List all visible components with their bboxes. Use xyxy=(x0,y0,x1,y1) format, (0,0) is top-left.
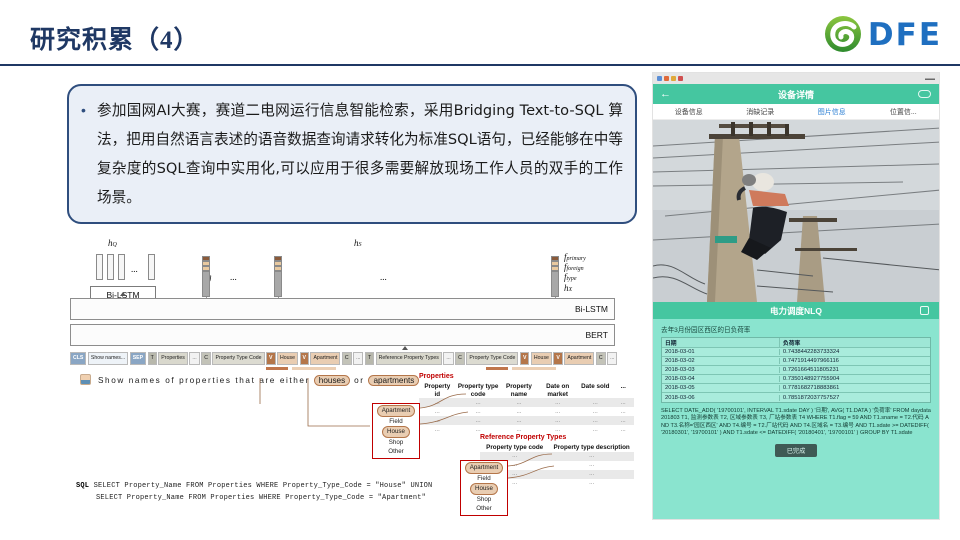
bi-lstm-band: Bi-LSTM xyxy=(70,298,615,320)
input-token: ... xyxy=(189,352,199,365)
table-cell: ... xyxy=(501,409,538,415)
nlq-table-cell: 2018-03-03 xyxy=(662,367,780,373)
status-left-icons xyxy=(657,76,683,81)
equipment-photo xyxy=(653,120,939,302)
input-token: Show names... xyxy=(88,352,128,365)
nlq-table-row: 2018-03-020.7471914497966116 xyxy=(662,357,930,366)
matched-value: House xyxy=(470,483,498,495)
input-token: Apartment xyxy=(310,352,340,365)
hidden-vector xyxy=(148,254,155,280)
nlq-table-cell: 2018-03-06 xyxy=(662,395,780,401)
matched-value: House xyxy=(382,426,410,438)
status-right-icons: ▬▬ xyxy=(925,76,935,82)
nlq-table-row: 2018-03-060.7851872037757527 xyxy=(662,393,930,402)
ellipsis-mid-2: ... xyxy=(380,272,387,282)
table-cell: ... xyxy=(419,409,456,415)
input-token: House xyxy=(277,352,298,365)
table-cell: ... xyxy=(578,400,612,406)
table-title-reference: Reference Property Types xyxy=(480,434,566,441)
input-token: V xyxy=(300,352,309,365)
label-f-foreign: fforeign xyxy=(564,262,584,272)
app-bar-title: 设备详情 xyxy=(778,88,814,101)
table-cell: ... xyxy=(537,400,578,406)
table-cell: ... xyxy=(578,409,612,415)
nlq-table-cell: 0.7851872037757527 xyxy=(780,395,930,401)
input-token: V xyxy=(520,352,529,365)
nlq-column-header: 日期 xyxy=(662,338,780,347)
mention-underline xyxy=(292,367,336,370)
column-header: Property type code xyxy=(480,444,549,452)
value-list-reference: ApartmentFieldHouseShopOther xyxy=(460,460,508,516)
mention-underline xyxy=(486,367,508,370)
table-row: .................. xyxy=(419,425,634,434)
label-f-type: ftype xyxy=(564,272,577,282)
nlq-column-header: 负荷率 xyxy=(780,338,930,347)
table-row: .................. xyxy=(419,398,634,407)
ellipsis-mid-1: ... xyxy=(230,272,237,282)
nlq-table-cell: 0.7438442283733324 xyxy=(780,349,930,355)
value-list-properties: ApartmentFieldHouseShopOther xyxy=(372,403,420,459)
bullet-marker: • xyxy=(81,102,86,118)
mention-underline xyxy=(512,367,556,370)
value-entry: House xyxy=(376,426,416,438)
phone-tab-0[interactable]: 设备信息 xyxy=(653,107,725,117)
nlq-title: 电力调度NLQ xyxy=(770,305,822,317)
input-token: C xyxy=(201,352,211,365)
table-cell: ... xyxy=(537,418,578,424)
value-entry: Shop xyxy=(464,495,504,505)
logo-e-swirl-icon xyxy=(824,15,864,55)
table-cell: ... xyxy=(612,427,634,433)
table-cell: ... xyxy=(419,418,456,424)
input-token: ... xyxy=(607,352,617,365)
value-entry: Shop xyxy=(376,438,416,448)
back-arrow-icon[interactable]: ← xyxy=(660,89,671,100)
phone-status-bar: ▬▬ xyxy=(653,73,939,84)
table-header-row: Property idProperty type codeProperty na… xyxy=(419,383,634,398)
column-header: Property type code xyxy=(456,383,501,398)
column-header: Property id xyxy=(419,383,456,398)
nlq-table-cell: 0.7471914497966116 xyxy=(780,358,930,364)
phone-screenshot: ▬▬ ← 设备详情 设备信息消缺记录图片信息位置信... xyxy=(652,72,940,520)
nlq-title-bar: 电力调度NLQ xyxy=(653,302,939,319)
nlq-table-cell: 2018-03-05 xyxy=(662,385,780,391)
value-entry: Other xyxy=(464,504,504,514)
value-entry: House xyxy=(464,483,504,495)
value-entry: Other xyxy=(376,447,416,457)
column-header: Date on market xyxy=(537,383,578,398)
hidden-vector xyxy=(96,254,103,280)
table-cell: ... xyxy=(501,418,538,424)
hidden-vector xyxy=(118,254,125,280)
input-token: House xyxy=(531,352,552,365)
table-cell: ... xyxy=(501,427,538,433)
nlq-table-row: 2018-03-050.7781682718883861 xyxy=(662,384,930,393)
brand-logo: DFE xyxy=(824,15,942,55)
nlq-table-cell: 2018-03-04 xyxy=(662,376,780,382)
nl-question: Show names of properties that are either… xyxy=(98,375,419,386)
nlq-table-cell: 2018-03-02 xyxy=(662,358,780,364)
column-header: Property name xyxy=(501,383,538,398)
nlq-generated-sql: SELECT DATE_ADD( '19700101', INTERVAL T1… xyxy=(661,408,931,438)
phone-tab-bar: 设备信息消缺记录图片信息位置信... xyxy=(653,104,939,120)
matched-value: Apartment xyxy=(377,405,416,417)
title-divider xyxy=(0,64,960,66)
appbar-action-icon[interactable] xyxy=(918,90,931,98)
input-token: V xyxy=(553,352,562,365)
table-title-properties: Properties xyxy=(419,373,454,380)
table-cell: ... xyxy=(612,418,634,424)
column-header: ... xyxy=(612,383,634,398)
table-row: .................. xyxy=(419,416,634,425)
table-cell: ... xyxy=(549,480,634,486)
mention-pill-houses: houses xyxy=(314,375,350,386)
value-entry: Field xyxy=(376,417,416,427)
ellipsis-q: ... xyxy=(131,264,138,274)
token-strip: CLSShow names...SEPTProperties...CProper… xyxy=(70,352,617,365)
callout-box: • 参加国网AI大赛，赛道二电网运行信息智能检索，采用Bridging Text… xyxy=(67,84,637,224)
label-h-x: hX xyxy=(564,283,572,293)
nlq-header-row: 日期负荷率 xyxy=(662,338,930,348)
table-cell: ... xyxy=(501,400,538,406)
mention-pill-apartments: apartments xyxy=(368,375,419,386)
input-token: Apartment xyxy=(564,352,594,365)
phone-app-bar: ← 设备详情 xyxy=(653,84,939,104)
table-cell: ... xyxy=(419,427,456,433)
table-cell: ... xyxy=(549,453,634,459)
table-cell: ... xyxy=(612,409,634,415)
hidden-vector xyxy=(107,254,114,280)
mention-underline xyxy=(266,367,288,370)
microphone-icon[interactable] xyxy=(920,306,929,315)
table-cell: ... xyxy=(480,453,549,459)
sql-output-line-2: SELECT Property_Name FROM Properties WHE… xyxy=(96,494,426,502)
value-entry: Field xyxy=(464,474,504,484)
input-token: T xyxy=(148,352,157,365)
logo-text: DFE xyxy=(868,20,942,51)
arrow-to-lstm xyxy=(120,292,126,296)
phone-tab-1[interactable]: 消缺记录 xyxy=(725,107,797,117)
input-token: CLS xyxy=(70,352,86,365)
user-avatar-icon xyxy=(80,374,91,385)
db-table-properties: Property idProperty type codeProperty na… xyxy=(419,383,634,434)
arrow-to-bert xyxy=(402,346,408,350)
callout-text: 参加国网AI大赛，赛道二电网运行信息智能检索，采用Bridging Text-t… xyxy=(97,96,623,212)
input-token: C xyxy=(455,352,465,365)
table-cell: ... xyxy=(456,427,501,433)
input-token: V xyxy=(266,352,275,365)
nlq-result-table: 日期负荷率2018-03-010.74384422837333242018-03… xyxy=(661,337,931,403)
input-token: C xyxy=(596,352,606,365)
phone-tab-2[interactable]: 图片信息 xyxy=(796,107,868,117)
nlq-table-cell: 2018-03-01 xyxy=(662,349,780,355)
input-token: Properties xyxy=(158,352,188,365)
table-row: .................. xyxy=(419,407,634,416)
bert-band: BERT xyxy=(70,324,615,346)
table-cell: ... xyxy=(537,409,578,415)
table-cell: ... xyxy=(549,471,634,477)
table-cell: ... xyxy=(456,409,501,415)
input-token: T xyxy=(365,352,374,365)
input-token: SEP xyxy=(130,352,146,365)
nlq-table-cell: 0.7350148927755904 xyxy=(780,376,930,382)
table-cell: ... xyxy=(456,418,501,424)
label-h-s: hS xyxy=(354,238,362,248)
done-button[interactable]: 已完成 xyxy=(775,444,817,457)
nlq-question: 去年3月份园区西区的日负荷率 xyxy=(653,319,939,337)
table-cell: ... xyxy=(578,427,612,433)
label-f-primary: fprimary xyxy=(564,252,586,262)
nlq-table-row: 2018-03-030.7261664511805231 xyxy=(662,366,930,375)
input-token: ... xyxy=(443,352,453,365)
column-header: Property type description xyxy=(549,444,634,452)
column-header: Date sold xyxy=(578,383,612,398)
label-h-q: hQ xyxy=(108,238,117,248)
value-entry: Apartment xyxy=(464,462,504,474)
matched-value: Apartment xyxy=(465,462,504,474)
input-token: Property Type Code xyxy=(212,352,264,365)
input-token: Property Type Code xyxy=(466,352,518,365)
table-cell: ... xyxy=(456,400,501,406)
table-cell: ... xyxy=(578,418,612,424)
table-cell: ... xyxy=(612,400,634,406)
phone-tab-3[interactable]: 位置信... xyxy=(868,107,940,117)
input-token: ... xyxy=(353,352,363,365)
table-cell: ... xyxy=(537,427,578,433)
table-header-row: Property type codeProperty type descript… xyxy=(480,444,634,452)
table-cell: ... xyxy=(549,462,634,468)
nlq-table-cell: 0.7781682718883861 xyxy=(780,385,930,391)
nlq-table-row: 2018-03-010.7438442283733324 xyxy=(662,348,930,357)
architecture-figure: hQ hS g ... Bi-LSTM xyxy=(70,236,645,526)
nlq-panel: 电力调度NLQ 去年3月份园区西区的日负荷率 日期负荷率2018-03-010.… xyxy=(653,302,939,520)
table-cell: ... xyxy=(419,400,456,406)
nlq-table-cell: 0.7261664511805231 xyxy=(780,367,930,373)
value-entry: Apartment xyxy=(376,405,416,417)
sql-output-line-1: SQL SELECT Property_Name FROM Properties… xyxy=(76,482,432,490)
nlq-table-row: 2018-03-040.7350148927755904 xyxy=(662,375,930,384)
input-token: C xyxy=(342,352,352,365)
slide-root: 研究积累（4） DFE • 参加国网AI大赛，赛道二电网运行信息智能检索，采用B… xyxy=(0,0,960,540)
input-token: Reference Property Types xyxy=(376,352,442,365)
page-title: 研究积累（4） xyxy=(30,20,200,56)
